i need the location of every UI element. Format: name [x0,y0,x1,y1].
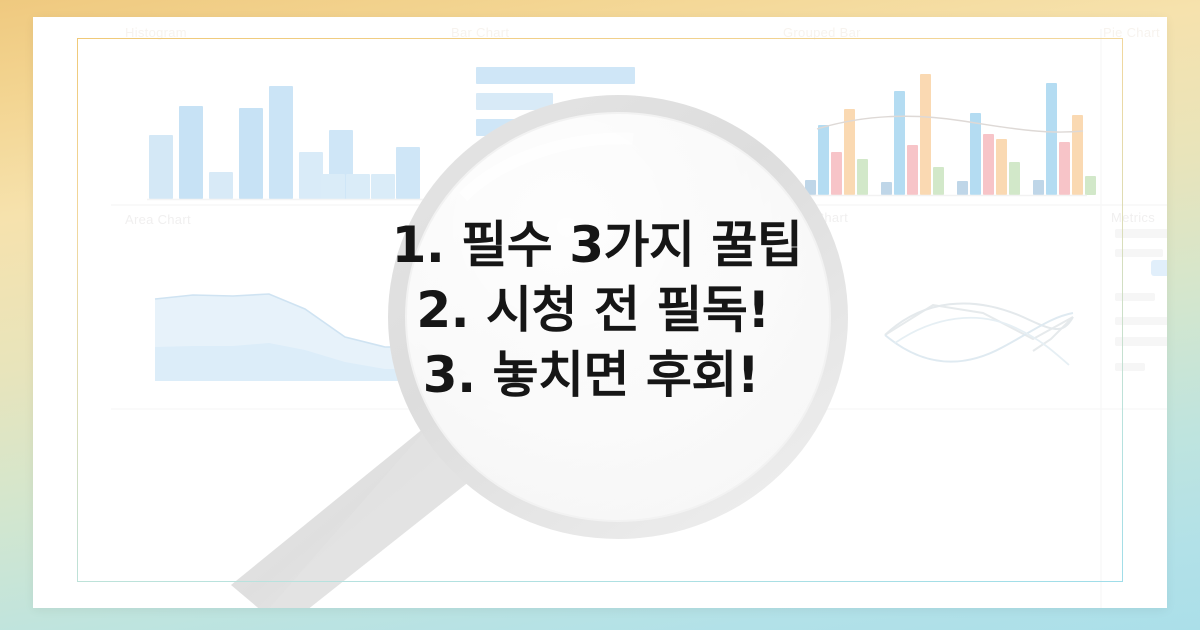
headline-line-1: 1. 필수 3가지 꿀팁 [33,213,1167,278]
headline-line-2: 2. 시청 전 필독! [33,278,1167,343]
white-card: Histogram Bar Chart Grouped Bar Pie Char… [33,17,1167,608]
poster-canvas: Histogram Bar Chart Grouped Bar Pie Char… [0,0,1200,630]
headline-line-3: 3. 놓치면 후회! [33,343,1167,408]
grouped-bar-trend-line [817,116,1083,132]
headline-text: 1. 필수 3가지 꿀팁 2. 시청 전 필독! 3. 놓치면 후회! [33,213,1167,408]
